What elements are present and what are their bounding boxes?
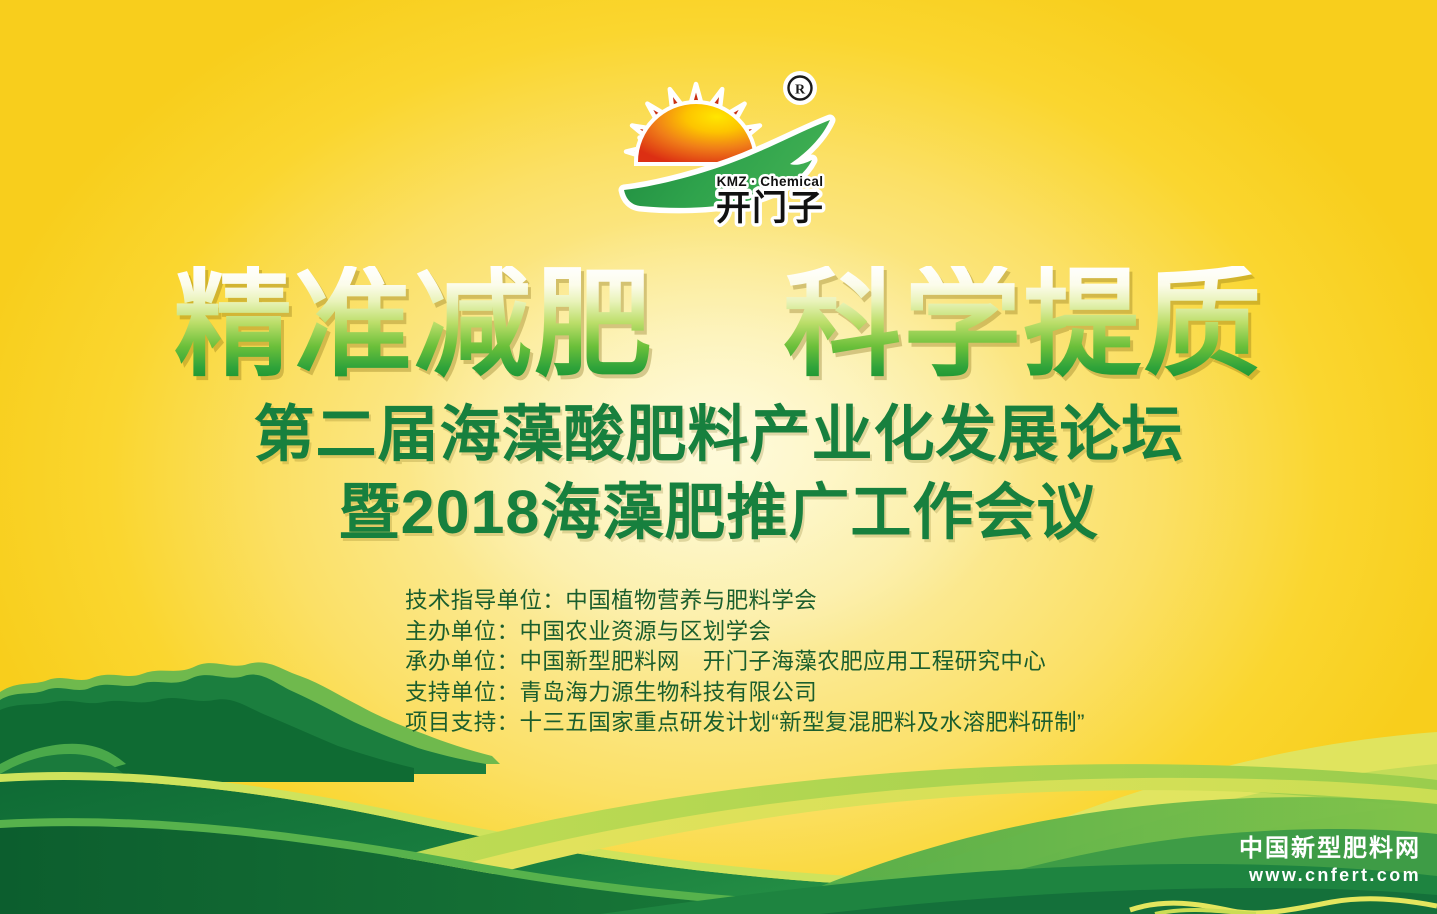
watermark-site-name: 中国新型肥料网 — [1239, 835, 1421, 863]
site-watermark: 中国新型肥料网 www.cnfert.com — [1239, 835, 1421, 886]
brand-lockup: KMZ · Chemical 开门子 — [716, 174, 824, 228]
credit-line-organizer: 主办单位：中国农业资源与区划学会 — [405, 617, 1085, 648]
headline-left-wrap: 精准减肥 精准减肥 — [174, 266, 654, 384]
credit-line-supporter: 支持单位：青岛海力源生物科技有限公司 — [405, 678, 1085, 709]
svg-text:R: R — [795, 83, 806, 98]
company-logo: R KMZ · Chemical 开门子 — [618, 60, 848, 250]
credits-block: 技术指导单位：中国植物营养与肥料学会 主办单位：中国农业资源与区划学会 承办单位… — [405, 586, 1085, 739]
headline-right: 科学提质 — [783, 266, 1263, 384]
credit-line-technical-guidance: 技术指导单位：中国植物营养与肥料学会 — [405, 586, 1085, 617]
headline: 精准减肥 精准减肥 科学提质 科学提质 — [0, 266, 1437, 384]
credit-line-project-support: 项目支持：十三五国家重点研发计划“新型复混肥料及水溶肥料研制” — [405, 708, 1085, 739]
registered-mark-icon: R — [783, 71, 817, 105]
brand-latin-text: KMZ · Chemical — [717, 174, 824, 189]
brand-cn-text: 开门子 — [716, 189, 824, 228]
subtitle-line-1: 第二届海藻酸肥料产业化发展论坛 — [0, 404, 1437, 465]
headline-right-wrap: 科学提质 科学提质 — [783, 266, 1263, 384]
event-poster: R KMZ · Chemical 开门子 精准减肥 精准减肥 科学提质 科学提质… — [0, 0, 1437, 914]
credit-line-co-organizer: 承办单位：中国新型肥料网 开门子海藻农肥应用工程研究中心 — [405, 647, 1085, 678]
subtitle-line-2: 暨2018海藻肥推广工作会议 — [0, 482, 1437, 543]
watermark-url: www.cnfert.com — [1239, 864, 1421, 887]
headline-left: 精准减肥 — [174, 266, 654, 384]
